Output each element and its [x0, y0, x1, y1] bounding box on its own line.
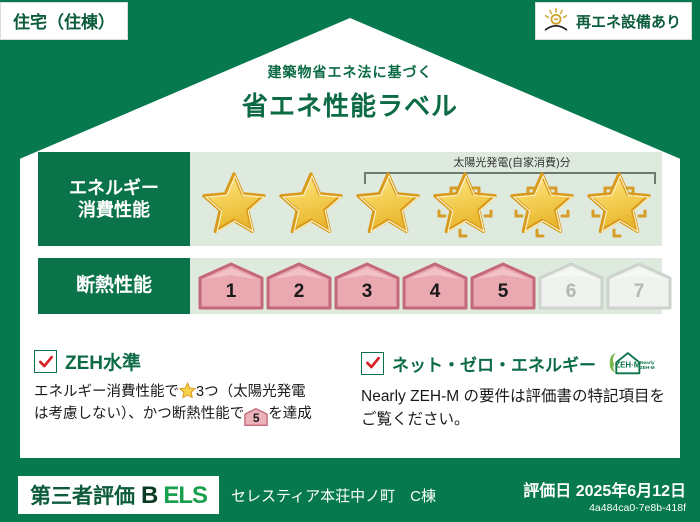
energy-star-track: 太陽光発電(自家消費)分 — [190, 152, 662, 246]
svg-text:ZEH·M: ZEH·M — [615, 360, 640, 369]
zeh-standard-title: ZEH水準 — [65, 348, 141, 375]
chip-level-number: 2 — [294, 281, 305, 310]
renewable-equipment-badge: 再エネ設備あり — [535, 2, 692, 40]
bels-letter-b: B — [141, 482, 157, 510]
insulation-row-label-text: 断熱性能 — [76, 274, 152, 298]
net-zero-title: ネット・ゼロ・エネルギー — [392, 351, 596, 376]
zeh-section: ZEH水準 エネルギー消費性能で 3つ（太陽光発電 は考慮しない）、かつ断熱性能… — [34, 348, 670, 432]
chip-level-number: 5 — [498, 281, 509, 310]
chip-level-number: 3 — [362, 281, 373, 310]
energy-row-label-line1: エネルギー — [69, 177, 159, 200]
inline-star-icon — [179, 382, 196, 399]
renewable-badge-label: 再エネ設備あり — [576, 11, 681, 32]
bels-jp-text: 第三者評価 — [30, 480, 135, 510]
insulation-level-track: 1 2 3 4 5 — [190, 258, 662, 314]
bels-logo: 第三者評価BELS — [18, 476, 219, 514]
footer-meta: 評価日 2025年6月12日 4a484ca0-7e8b-418f — [523, 477, 686, 514]
insulation-level-chip: 6 — [538, 262, 604, 310]
insulation-level-chip: 1 — [198, 262, 264, 310]
evaluation-id: 4a484ca0-7e8b-418f — [523, 502, 686, 514]
net-zero-energy-block: ネット・ゼロ・エネルギー ZEH·M Nearly ZEH-M Nearly Z… — [361, 348, 670, 432]
zeh-standard-description: エネルギー消費性能で 3つ（太陽光発電 は考慮しない）、かつ断熱性能で 5を達成 — [34, 382, 343, 426]
zeh-desc-part4: を達成 — [268, 406, 312, 422]
star-icon — [273, 168, 349, 244]
insulation-row-label: 断熱性能 — [38, 258, 190, 314]
star-icon-solar — [504, 168, 580, 244]
insulation-level-chip: 7 — [606, 262, 672, 310]
net-zero-description: Nearly ZEH-M の要件は評価書の特記項目をご覧ください。 — [361, 385, 670, 432]
energy-row-label: エネルギー 消費性能 — [38, 152, 190, 246]
svg-text:Nearly: Nearly — [640, 360, 655, 365]
insulation-performance-row: 断熱性能 1 2 3 4 — [38, 258, 662, 314]
chip-level-number: 6 — [566, 281, 577, 310]
insulation-level-chip: 3 — [334, 262, 400, 310]
net-zero-checkbox[interactable] — [361, 352, 384, 375]
zeh-m-logo-icon: ZEH·M Nearly ZEH-M — [604, 348, 656, 378]
zeh-standard-block: ZEH水準 エネルギー消費性能で 3つ（太陽光発電 は考慮しない）、かつ断熱性能… — [34, 348, 343, 432]
star-icon — [350, 168, 426, 244]
title-subtitle: 建築物省エネ法に基づく — [0, 62, 700, 82]
chip-level-number: 4 — [430, 281, 441, 310]
dwelling-type-tag: 住宅（住棟） — [0, 2, 128, 40]
insulation-level-chip: 2 — [266, 262, 332, 310]
inline-badge-number: 5 — [253, 411, 260, 425]
bels-letters-els: ELS — [163, 482, 207, 510]
building-name: セレスティア本荘中ノ町 C棟 — [231, 485, 436, 506]
star-icon-solar — [581, 168, 657, 244]
chip-level-number: 7 — [634, 281, 645, 310]
energy-performance-label: 住宅（住棟） 再エネ設備あり 建築物省エネ法に基づく 省エネ性能ラベル — [0, 0, 700, 522]
net-zero-header: ネット・ゼロ・エネルギー ZEH·M Nearly ZEH-M — [361, 348, 670, 378]
star-icon — [196, 168, 272, 244]
star-rating — [196, 168, 657, 244]
evaluation-date: 評価日 2025年6月12日 — [523, 477, 686, 501]
page-title: 省エネ性能ラベル — [0, 86, 700, 123]
chip-level-number: 1 — [226, 281, 237, 310]
inline-insulation-badge: 5 — [244, 408, 268, 426]
star-icon-solar — [427, 168, 503, 244]
zeh-desc-part2: 3つ（太陽光発電 — [196, 384, 306, 400]
insulation-chips: 1 2 3 4 5 — [198, 262, 672, 310]
label-title-group: 建築物省エネ法に基づく 省エネ性能ラベル — [0, 62, 700, 123]
zeh-desc-part3: は考慮しない）、かつ断熱性能で — [34, 406, 244, 422]
svg-text:ZEH-M: ZEH-M — [640, 365, 655, 370]
energy-performance-row: エネルギー 消費性能 太陽光発電(自家消費)分 — [38, 152, 662, 246]
label-footer: 第三者評価BELS セレスティア本荘中ノ町 C棟 評価日 2025年6月12日 … — [0, 468, 700, 522]
performance-rows: エネルギー 消費性能 太陽光発電(自家消費)分 — [38, 152, 662, 326]
sun-icon — [542, 7, 570, 35]
zeh-standard-checkbox[interactable] — [34, 350, 57, 373]
insulation-level-chip: 4 — [402, 262, 468, 310]
zeh-desc-part1: エネルギー消費性能で — [34, 384, 179, 400]
insulation-level-chip: 5 — [470, 262, 536, 310]
energy-row-label-line2: 消費性能 — [78, 199, 150, 222]
zeh-standard-header: ZEH水準 — [34, 348, 343, 375]
